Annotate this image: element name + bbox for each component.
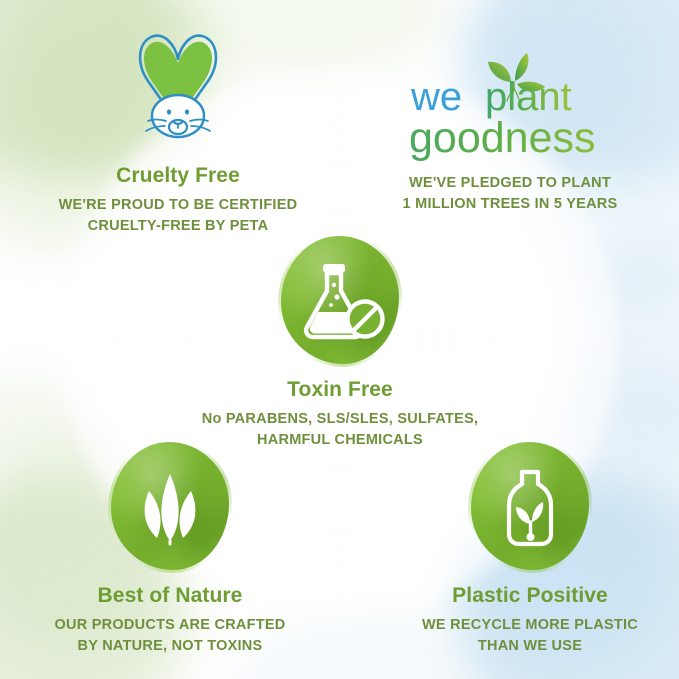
panel-best-of-nature: Best of Nature OUR PRODUCTS ARE CRAFTED … xyxy=(10,442,330,656)
svg-text:we: we xyxy=(410,75,462,119)
svg-text:plant: plant xyxy=(485,75,572,119)
panel-subline-2: 1 MILLION TREES IN 5 YEARS xyxy=(355,194,665,215)
panel-plastic-positive: Plastic Positive WE RECYCLE MORE PLASTIC… xyxy=(370,442,679,656)
panel-subline-1: WE'RE PROUD TO BE CERTIFIED xyxy=(18,195,338,216)
panel-subline-1: WE RECYCLE MORE PLASTIC xyxy=(370,615,679,636)
panel-subline-1: WE'VE PLEDGED TO PLANT xyxy=(355,173,665,194)
bunny-heart-icon xyxy=(103,22,253,152)
panel-heading: Cruelty Free xyxy=(18,164,338,188)
panel-we-plant-goodness: we plant goodness WE'VE PLEDGED TO PLANT… xyxy=(355,48,665,214)
panel-subline-1: No PARABENS, SLS/SLES, SULFATES, xyxy=(180,409,500,430)
panel-cruelty-free: Cruelty Free WE'RE PROUD TO BE CERTIFIED… xyxy=(18,22,338,236)
flask-no-entry-icon xyxy=(281,236,399,364)
panel-subline-1: OUR PRODUCTS ARE CRAFTED xyxy=(10,615,330,636)
bottle-sprout-icon xyxy=(471,442,589,570)
three-leaves-icon xyxy=(111,442,229,570)
sustainability-infographic: Cruelty Free WE'RE PROUD TO BE CERTIFIED… xyxy=(0,0,679,679)
panel-heading: Plastic Positive xyxy=(370,584,679,608)
panel-subline-2: CRUELTY-FREE BY PETA xyxy=(18,216,338,237)
panel-toxin-free: Toxin Free No PARABENS, SLS/SLES, SULFAT… xyxy=(180,236,500,450)
panel-subline-2: BY NATURE, NOT TOXINS xyxy=(10,636,330,657)
svg-text:goodness: goodness xyxy=(409,114,596,162)
panel-heading: Best of Nature xyxy=(10,584,330,608)
panel-heading: Toxin Free xyxy=(180,378,500,402)
we-plant-goodness-logo: we plant goodness xyxy=(403,48,618,163)
panel-subline-2: THAN WE USE xyxy=(370,636,679,657)
